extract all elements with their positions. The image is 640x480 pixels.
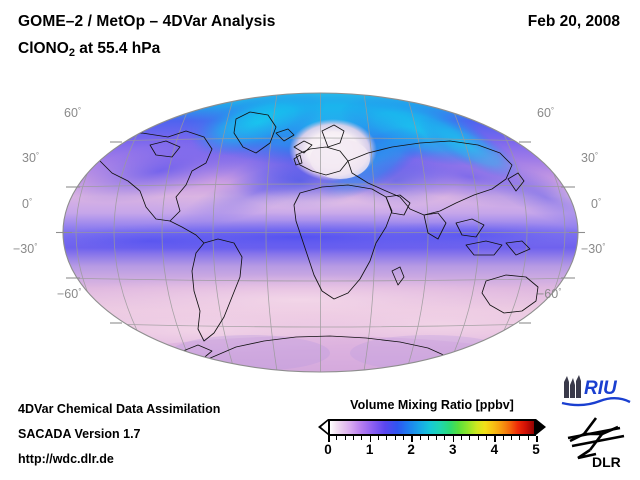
lat-label-30-right: 30° [581,151,598,165]
lat-label-m30-left: −30° [13,242,37,256]
footer-line-assimilation: 4DVar Chemical Data Assimilation [18,402,220,416]
colorbar-minor-tick [378,436,379,440]
colorbar-minor-tick [436,436,437,440]
colorbar-minor-tick [395,436,396,440]
colorbar-tick-label: 4 [491,442,499,457]
colorbar: Volume Mixing Ratio [ppbv] 012345 [318,398,546,468]
lat-label-60-right: 60° [537,106,554,120]
colorbar-tick-label: 1 [366,442,374,457]
riu-wave-icon [562,398,630,405]
colorbar-tick-label: 2 [407,442,415,457]
data-field [20,85,617,385]
colorbar-minor-tick [361,436,362,440]
riu-wordmark: RIU [584,378,618,399]
page-title: GOME–2 / MetOp – 4DVar Analysis [18,13,276,31]
dlr-wordmark: DLR [592,454,621,470]
colorbar-minor-tick [511,436,512,440]
colorbar-minor-tick [519,436,520,440]
date-label: Feb 20, 2008 [528,13,620,31]
lat-label-m60-right: −60° [537,287,561,301]
world-map [0,85,640,385]
map-panel: 60° 30° 0° −30° −60° 60° 30° 0° −30° −60… [0,85,640,385]
colorbar-tick-label: 3 [449,442,457,457]
riu-logo: RIU [556,372,634,412]
footer-line-url: http://wdc.dlr.de [18,452,114,466]
colorbar-extend-min-arrow [318,419,328,435]
colorbar-minor-tick [461,436,462,440]
lat-label-60-left: 60° [64,106,81,120]
level-label: at 55.4 hPa [75,40,160,57]
colorbar-minor-tick [444,436,445,440]
lat-label-30-left: 30° [22,151,39,165]
colorbar-labels: 012345 [328,442,536,462]
colorbar-minor-tick [503,436,504,440]
riu-towers-icon [564,375,581,398]
lat-label-0-right: 0° [591,197,601,211]
dlr-mark-icon [568,418,624,458]
species-label: ClONO [18,40,69,57]
lat-label-0-left: 0° [22,197,32,211]
colorbar-minor-tick [345,436,346,440]
colorbar-minor-tick [478,436,479,440]
species-subtitle: ClONO2 at 55.4 hPa [18,40,160,59]
colorbar-minor-tick [486,436,487,440]
dlr-logo: DLR [562,414,634,470]
colorbar-minor-tick [403,436,404,440]
lat-label-m60-left: −60° [57,287,81,301]
colorbar-minor-tick [428,436,429,440]
colorbar-minor-tick [528,436,529,440]
colorbar-title: Volume Mixing Ratio [ppbv] [318,398,546,412]
footer-line-version: SACADA Version 1.7 [18,427,141,441]
colorbar-minor-tick [469,436,470,440]
colorbar-minor-tick [386,436,387,440]
colorbar-extend-max-arrow [536,419,546,435]
colorbar-minor-tick [420,436,421,440]
colorbar-tick-label: 0 [324,442,332,457]
lat-label-m30-right: −30° [581,242,605,256]
colorbar-gradient [328,419,536,436]
colorbar-minor-tick [353,436,354,440]
colorbar-tick-label: 5 [532,442,540,457]
colorbar-minor-tick [336,436,337,440]
